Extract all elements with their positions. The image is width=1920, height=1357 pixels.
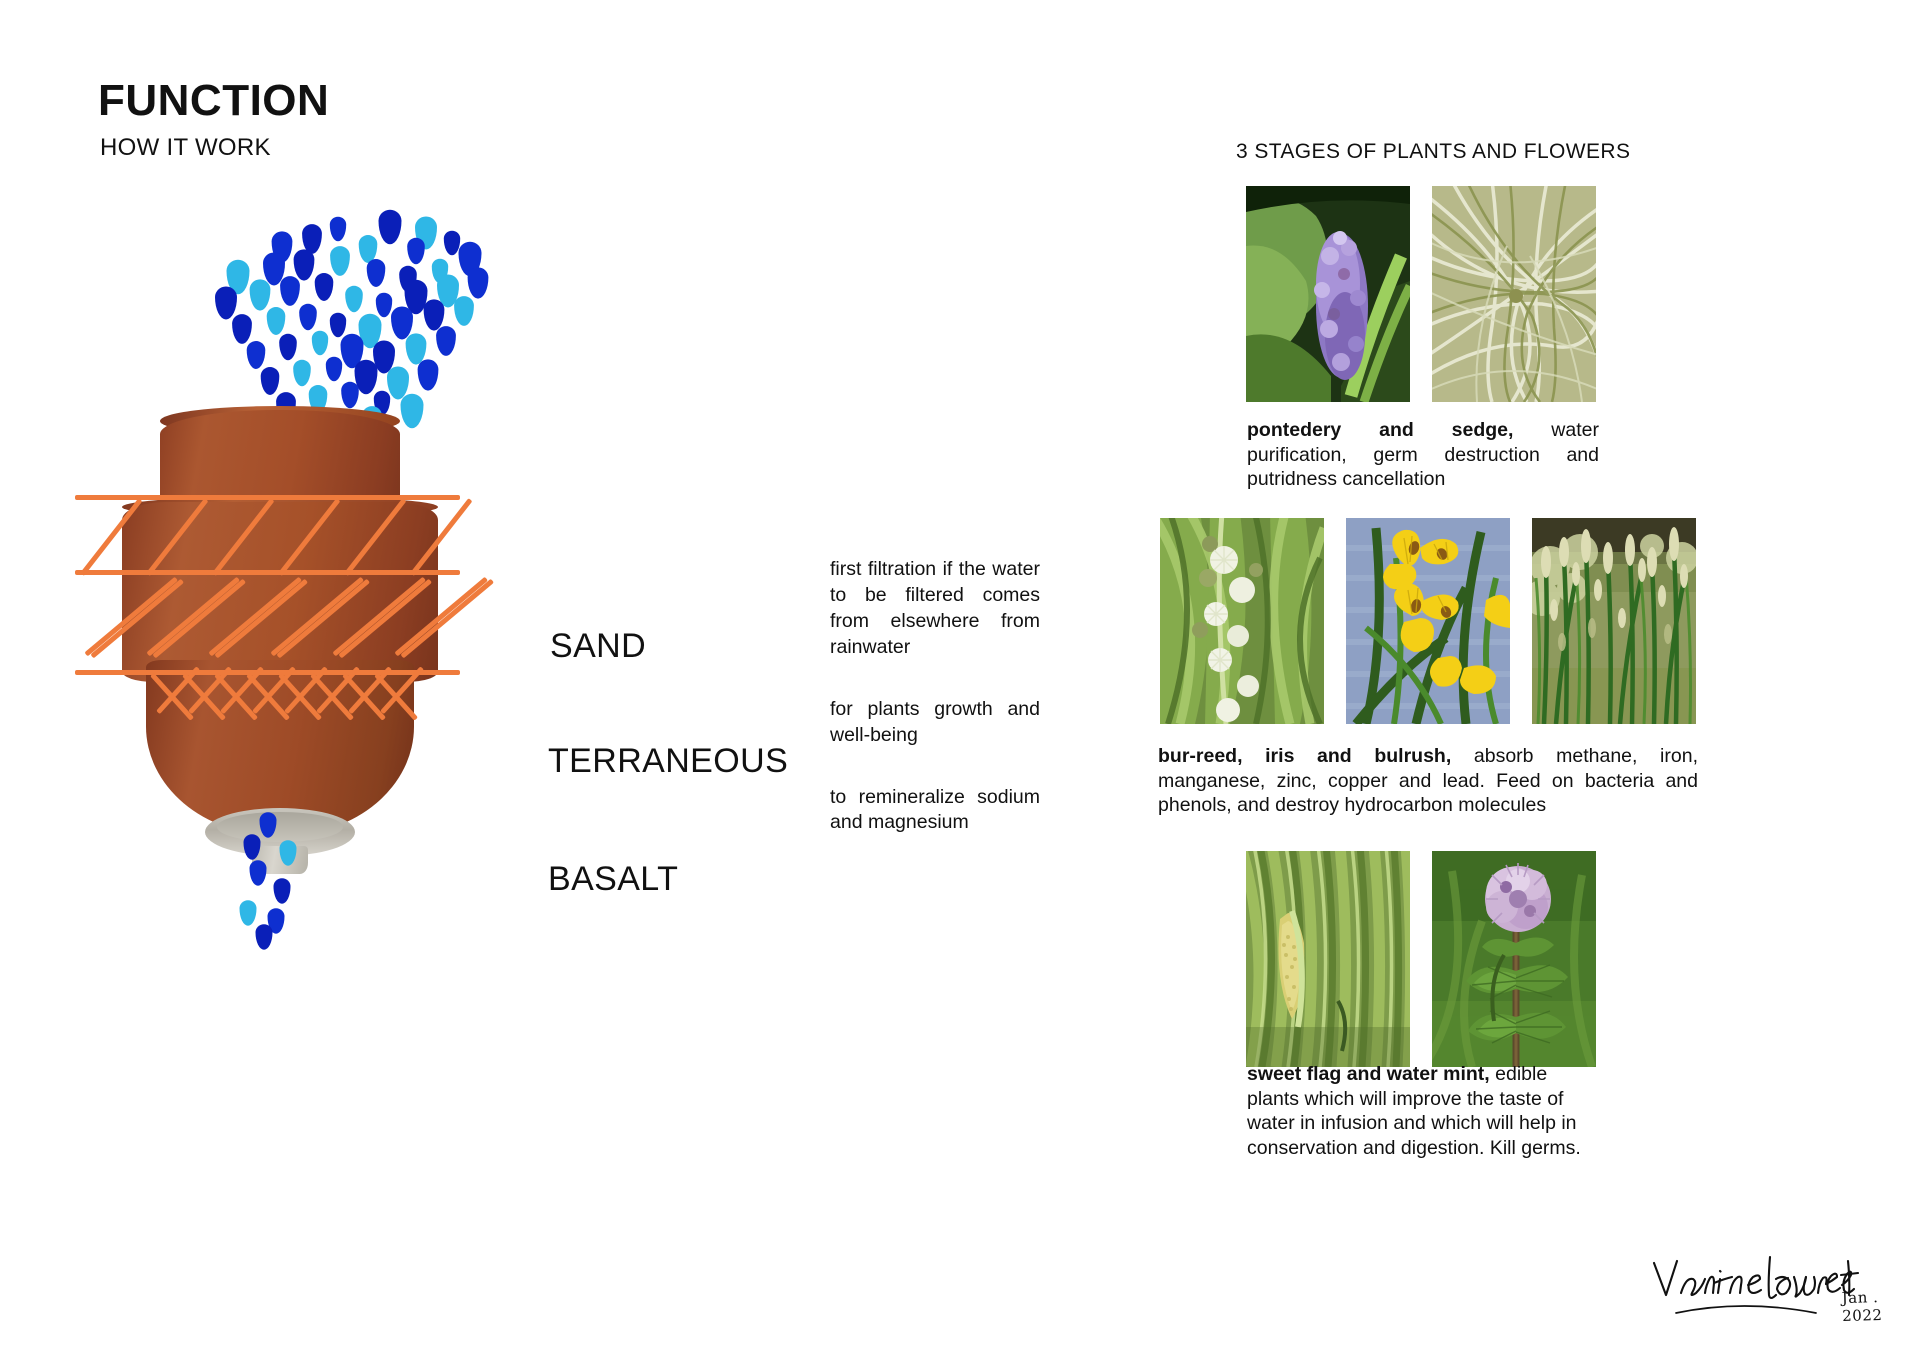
pontederia-flower-photo xyxy=(1246,186,1410,402)
rain-drop xyxy=(247,341,266,369)
filtered-drop xyxy=(280,840,297,866)
stage-2-caption: bur-reed, iris and bulrush, absorb metha… xyxy=(1158,744,1698,818)
rain-drop xyxy=(250,279,271,310)
rain-drop xyxy=(341,382,359,408)
stage-2-photo-row xyxy=(1160,518,1696,724)
variegated-sedge-photo xyxy=(1432,186,1596,402)
rain-drop xyxy=(215,287,237,320)
rain-drop xyxy=(312,331,328,356)
rain-drop xyxy=(418,359,439,390)
rain-drop xyxy=(468,267,489,298)
bur-reed-photo xyxy=(1160,518,1324,724)
stage-3-photo-row xyxy=(1246,851,1596,1067)
layer-notes-column: first filtration if the water to be filt… xyxy=(830,557,1040,836)
yellow-iris-photo xyxy=(1346,518,1510,724)
filtered-drop xyxy=(244,834,261,860)
terracotta-pot xyxy=(100,410,460,810)
rain-drop xyxy=(330,217,346,242)
layer-label-basalt: BASALT xyxy=(548,860,678,899)
page-title: FUNCTION xyxy=(98,76,329,126)
layer-note-terraneous: for plants growth and well-being xyxy=(830,697,1040,749)
rain-drop xyxy=(345,286,363,312)
water-mint-photo xyxy=(1432,851,1596,1067)
rain-drop xyxy=(326,357,342,382)
rain-drop xyxy=(279,334,297,360)
stage-1-caption: pontedery and sedge, water purification,… xyxy=(1247,418,1599,492)
rain-drop xyxy=(436,326,456,356)
rain-drop xyxy=(294,249,315,280)
stage-1-photo-row xyxy=(1246,186,1596,402)
signature-date: Jan . 2022 xyxy=(1842,1287,1920,1325)
filtered-water-drips xyxy=(220,810,310,930)
layer-label-terraneous: TERRANEOUS xyxy=(548,742,788,781)
rain-drop xyxy=(261,367,280,395)
sweet-flag-photo xyxy=(1246,851,1410,1067)
layer-note-basalt: to remineralize sodium and magnesium xyxy=(830,785,1040,837)
rain-drop xyxy=(330,313,346,338)
rain-drop xyxy=(407,238,425,264)
rain-drop xyxy=(367,259,386,287)
stage-3-caption-bold: sweet flag and water mint, xyxy=(1247,1063,1490,1085)
filtered-drop xyxy=(250,860,267,886)
rain-drop xyxy=(330,246,350,276)
bulrush-photo xyxy=(1532,518,1696,724)
rain-drop xyxy=(293,360,311,386)
filtered-drop xyxy=(240,900,257,926)
layer-label-sand: SAND xyxy=(550,627,646,666)
layer-note-sand: first filtration if the water to be filt… xyxy=(830,557,1040,661)
rain-drop xyxy=(267,307,286,335)
filtered-drop xyxy=(260,812,277,838)
stage-3-caption: sweet flag and water mint, edible plants… xyxy=(1247,1062,1599,1160)
pot-middle-section xyxy=(122,502,438,682)
rain-drop xyxy=(280,276,300,306)
stage-1-caption-bold: pontedery and sedge, xyxy=(1247,419,1513,441)
plants-section-title: 3 STAGES OF PLANTS AND FLOWERS xyxy=(1236,140,1630,164)
rain-drop xyxy=(299,304,317,330)
stage-2-caption-bold: bur-reed, iris and bulrush, xyxy=(1158,745,1451,767)
filtered-drop xyxy=(256,924,273,950)
filtration-pot-diagram xyxy=(60,180,820,1140)
rain-drop xyxy=(379,210,402,245)
rain-drop xyxy=(315,273,334,301)
page-subtitle: HOW IT WORK xyxy=(100,134,271,162)
rain-drop xyxy=(376,293,392,318)
rain-drop xyxy=(232,314,252,344)
rain-drop xyxy=(454,296,474,326)
filtered-drop xyxy=(274,878,291,904)
